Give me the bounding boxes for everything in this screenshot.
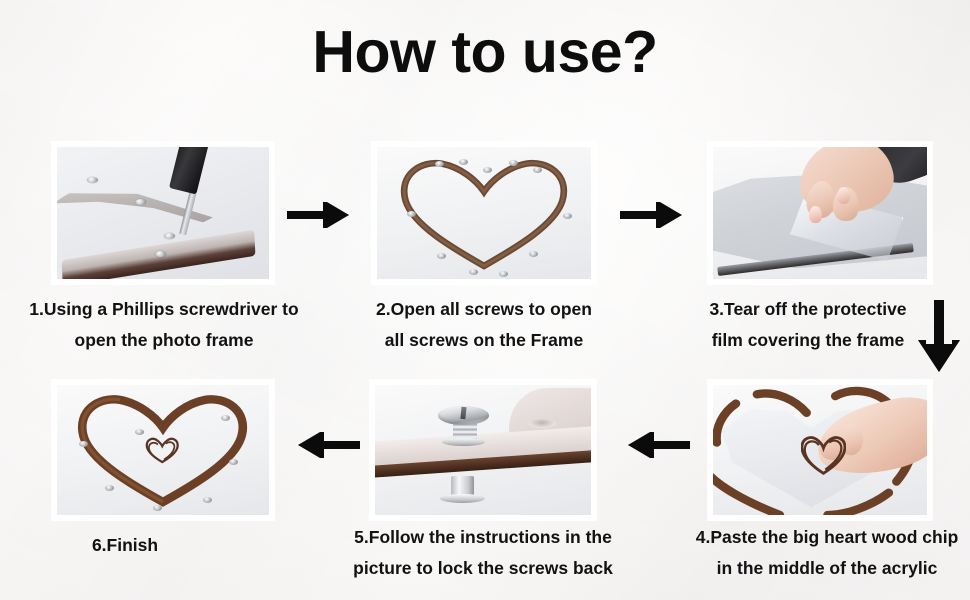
fingernail — [809, 206, 822, 223]
step-1-caption: 1.Using a Phillips screwdriver to open t… — [22, 294, 306, 356]
screw-icon — [499, 271, 508, 277]
screw-hole — [528, 419, 556, 428]
step-4-caption: 4.Paste the big heart wood chip in the m… — [686, 522, 968, 584]
step-1-photo — [57, 147, 269, 279]
step-3-caption-line2: film covering the frame — [690, 325, 926, 356]
step-3-caption: 3.Tear off the protective film covering … — [690, 294, 926, 356]
screw-icon — [135, 429, 144, 435]
step-6-image — [52, 380, 274, 520]
screw-icon — [221, 415, 230, 421]
screw-icon — [533, 167, 542, 173]
screw-icon — [135, 199, 146, 205]
fingernail — [837, 187, 850, 204]
step-3-photo — [713, 147, 927, 279]
step-5-caption-line1: 5.Follow the instructions in the — [342, 522, 624, 553]
screw-icon — [229, 459, 238, 465]
step-3-image — [708, 142, 932, 284]
screw-icon — [483, 167, 492, 173]
screw-icon — [87, 177, 98, 183]
step-2-caption-line2: all screws on the Frame — [352, 325, 616, 356]
step-2-photo — [377, 147, 591, 279]
arrow-step2-to-step3 — [620, 198, 682, 232]
screw-icon — [563, 213, 572, 219]
step-3-caption-line1: 3.Tear off the protective — [690, 294, 926, 325]
arrow-step1-to-step2 — [287, 198, 349, 232]
step-4-image — [708, 380, 932, 520]
step-5-photo — [375, 385, 591, 515]
infographic-page: How to use? — [0, 0, 970, 600]
screw-icon — [407, 211, 416, 217]
step-2-caption: 2.Open all screws to open all screws on … — [352, 294, 616, 356]
step-6-caption-line1: 6.Finish — [22, 530, 228, 561]
step-5-caption: 5.Follow the instructions in the picture… — [342, 522, 624, 584]
step-1-caption-line1: 1.Using a Phillips screwdriver to — [22, 294, 306, 325]
screw-icon — [529, 251, 538, 257]
screw-icon — [469, 269, 478, 275]
arrow-step4-to-step5 — [628, 428, 690, 462]
step-6-caption: 6.Finish — [22, 530, 228, 561]
page-title: How to use? — [0, 16, 970, 88]
screw-icon — [509, 160, 518, 166]
screw-icon — [153, 505, 162, 511]
screw-icon — [155, 251, 166, 257]
arrow-step5-to-step6 — [298, 428, 360, 462]
screw-icon — [459, 159, 468, 165]
screw-icon — [203, 497, 212, 503]
step-4-caption-line1: 4.Paste the big heart wood chip — [686, 522, 968, 553]
step-2-image — [372, 142, 596, 284]
screw-icon — [435, 161, 444, 167]
screw-icon — [437, 253, 446, 259]
finished-heart-frame — [57, 385, 269, 515]
step-1-caption-line2: open the photo frame — [22, 325, 306, 356]
step-2-caption-line1: 2.Open all screws to open — [352, 294, 616, 325]
screw-icon — [164, 233, 175, 239]
wood-heart-chip — [801, 434, 846, 473]
step-4-photo — [713, 385, 927, 515]
step-5-image — [370, 380, 596, 520]
screw-icon — [105, 485, 114, 491]
step-5-caption-line2: picture to lock the screws back — [342, 553, 624, 584]
step-4-caption-line2: in the middle of the acrylic — [686, 553, 968, 584]
screw-icon — [79, 441, 88, 447]
step-1-image — [52, 142, 274, 284]
step-6-photo — [57, 385, 269, 515]
